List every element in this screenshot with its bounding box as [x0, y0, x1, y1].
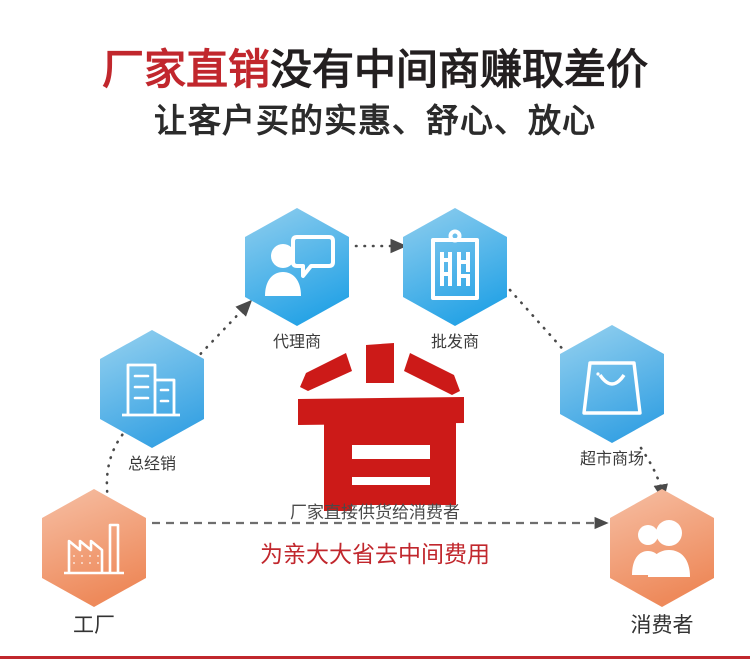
factory-hexagon	[42, 489, 146, 607]
node-consumer[interactable]: 消费者	[610, 489, 714, 607]
node-factory[interactable]: 工厂	[42, 489, 146, 607]
headline-rest: 没有中间商赚取差价	[270, 46, 648, 93]
distributor-hexagon	[100, 330, 204, 448]
agent-hexagon	[245, 208, 349, 326]
node-label-wholesaler: 批发商	[373, 328, 537, 352]
headline-highlight: 厂家直销	[102, 46, 270, 93]
node-agent[interactable]: 代理商	[245, 208, 349, 326]
direct-supply-label: 厂家直接供货给消费者	[175, 498, 575, 523]
node-supermarket[interactable]: 超市商场	[560, 325, 664, 443]
headline-line-2: 让客户买的实惠、舒心、放心	[0, 98, 750, 144]
headline-line-1: 厂家直销没有中间商赚取差价	[0, 44, 750, 96]
node-distributor[interactable]: 总经销	[100, 330, 204, 448]
supply-chain-diagram: 工厂	[0, 180, 750, 640]
headline-block: 厂家直销没有中间商赚取差价 让客户买的实惠、舒心、放心	[0, 44, 750, 144]
node-wholesaler[interactable]: 批发商	[403, 208, 507, 326]
savings-label: 为亲大大省去中间费用	[175, 535, 575, 569]
consumer-hexagon	[610, 489, 714, 607]
wholesaler-hexagon	[403, 208, 507, 326]
supermarket-hexagon	[560, 325, 664, 443]
node-label-agent: 代理商	[215, 328, 379, 352]
infographic-canvas: 厂家直销没有中间商赚取差价 让客户买的实惠、舒心、放心	[0, 0, 750, 659]
node-label-distributor: 总经销	[70, 450, 234, 474]
node-label-consumer: 消费者	[580, 609, 744, 639]
node-label-supermarket: 超市商场	[530, 445, 694, 469]
node-label-factory: 工厂	[12, 609, 176, 639]
